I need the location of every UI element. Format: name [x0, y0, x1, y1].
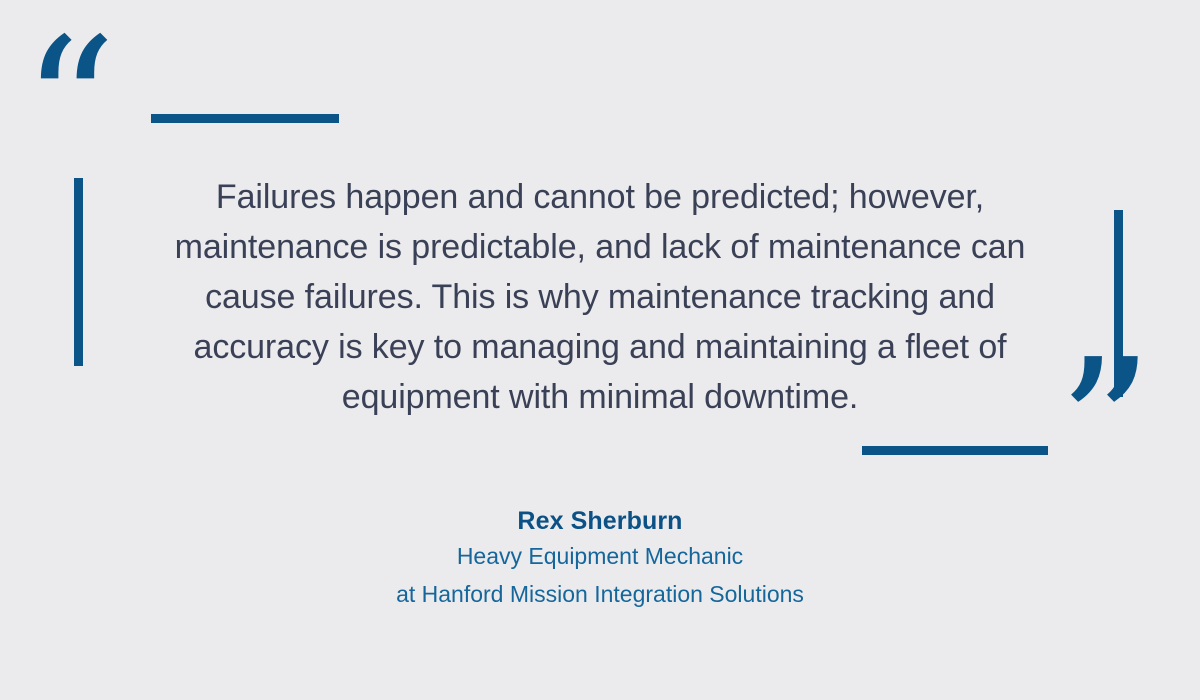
- open-quote-icon: “: [22, 14, 117, 199]
- attribution: Rex Sherburn Heavy Equipment Mechanic at…: [0, 505, 1200, 613]
- testimonial-card: “ Failures happen and cannot be predicte…: [0, 0, 1200, 700]
- top-horizontal-rule: [151, 114, 339, 123]
- attribution-role: Heavy Equipment Mechanic: [0, 537, 1200, 575]
- close-quote-icon: ”: [1058, 335, 1153, 520]
- attribution-organization: at Hanford Mission Integration Solutions: [0, 575, 1200, 613]
- left-vertical-rule: [74, 178, 83, 366]
- bottom-horizontal-rule: [862, 446, 1048, 455]
- attribution-name: Rex Sherburn: [0, 505, 1200, 537]
- quote-text: Failures happen and cannot be predicted;…: [140, 172, 1060, 422]
